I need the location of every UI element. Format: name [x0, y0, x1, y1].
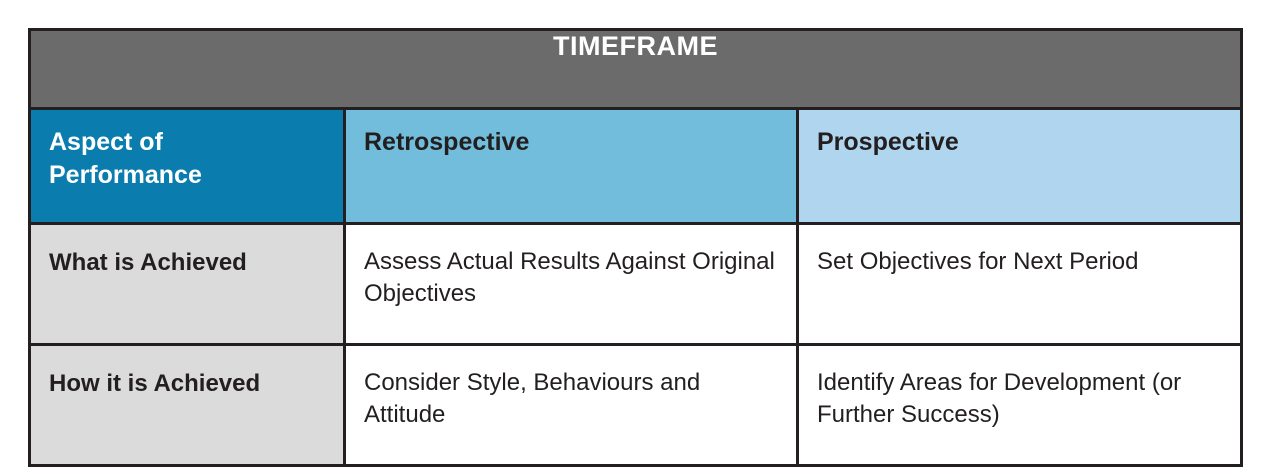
row-label-what-is-achieved: What is Achieved: [31, 225, 343, 278]
row-label-cell-what-is-achieved: What is Achieved: [30, 224, 345, 345]
table-row: How it is Achieved Consider Style, Behav…: [30, 345, 1242, 466]
header-label-retrospective: Retrospective: [346, 110, 796, 159]
row-label-cell-how-it-is-achieved: How it is Achieved: [30, 345, 345, 466]
header-label-aspect-line2: Performance: [49, 161, 202, 189]
timeframe-banner-row: TIMEFRAME: [30, 30, 1242, 109]
column-header-row: Aspect of Performance Retrospective Pros…: [30, 109, 1242, 224]
cell-how-it-is-achieved-prospective: Identify Areas for Development (or Furth…: [798, 345, 1242, 466]
cell-how-it-is-achieved-retrospective: Consider Style, Behaviours and Attitude: [345, 345, 798, 466]
header-cell-retrospective: Retrospective: [345, 109, 798, 224]
performance-timeframe-matrix: TIMEFRAME Aspect of Performance Retrospe…: [28, 28, 1243, 467]
table-row: What is Achieved Assess Actual Results A…: [30, 224, 1242, 345]
header-cell-prospective: Prospective: [798, 109, 1242, 224]
row-label-how-it-is-achieved: How it is Achieved: [31, 346, 343, 399]
header-label-aspect-of-performance: Aspect of Performance: [31, 110, 343, 191]
header-cell-aspect-of-performance: Aspect of Performance: [30, 109, 345, 224]
header-label-aspect-line1: Aspect of: [49, 128, 163, 156]
header-label-prospective: Prospective: [799, 110, 1240, 159]
cell-what-is-achieved-prospective: Set Objectives for Next Period: [798, 224, 1242, 345]
cell-text-how-it-is-achieved-retrospective: Consider Style, Behaviours and Attitude: [346, 346, 796, 431]
cell-what-is-achieved-retrospective: Assess Actual Results Against Original O…: [345, 224, 798, 345]
cell-text-how-it-is-achieved-prospective: Identify Areas for Development (or Furth…: [799, 346, 1240, 431]
screenshot-canvas: TIMEFRAME Aspect of Performance Retrospe…: [0, 0, 1266, 474]
timeframe-banner-cell: TIMEFRAME: [30, 30, 1242, 109]
timeframe-banner-label: TIMEFRAME: [31, 31, 1240, 62]
cell-text-what-is-achieved-retrospective: Assess Actual Results Against Original O…: [346, 225, 796, 310]
cell-text-what-is-achieved-prospective: Set Objectives for Next Period: [799, 225, 1240, 278]
